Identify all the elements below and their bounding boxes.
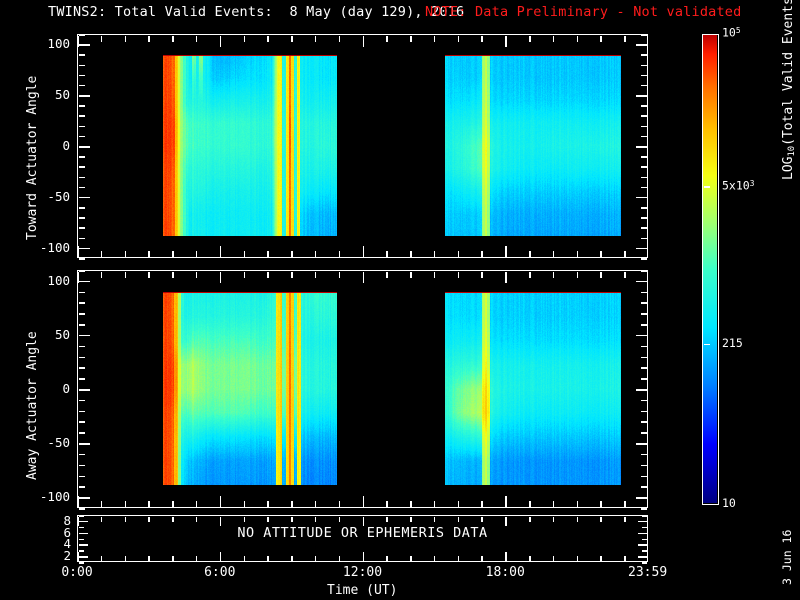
axis-tick	[79, 400, 85, 402]
axis-tick	[529, 501, 531, 507]
axis-tick	[641, 400, 647, 402]
axis-tick	[172, 517, 174, 522]
away-ytick-label: 100	[30, 275, 70, 288]
plot-date-stamp: 3 Jun 16	[782, 530, 794, 585]
axis-tick	[553, 556, 555, 561]
axis-tick	[458, 501, 460, 507]
axis-tick	[220, 272, 222, 283]
axis-tick	[79, 486, 85, 488]
axis-tick	[638, 533, 647, 535]
colorbar-tick-mark	[704, 186, 710, 188]
axis-tick	[505, 517, 507, 526]
axis-tick	[641, 476, 647, 478]
axis-tick	[125, 251, 127, 257]
axis-tick	[267, 501, 269, 507]
axis-tick	[458, 517, 460, 522]
axis-tick	[79, 75, 85, 77]
axis-tick	[315, 501, 317, 507]
axis-tick	[79, 146, 90, 148]
axis-tick	[636, 44, 647, 46]
axis-tick	[641, 126, 647, 128]
time-tick-label: 12:00	[328, 566, 398, 579]
time-axis-title: Time (UT)	[327, 584, 397, 597]
axis-tick	[79, 197, 90, 199]
axis-tick	[79, 432, 85, 434]
axis-tick	[79, 313, 85, 315]
axis-tick	[636, 335, 647, 337]
axis-tick	[79, 533, 88, 535]
ephemeris-message: NO ATTITUDE OR EPHEMERIS DATA	[77, 527, 648, 541]
axis-tick	[267, 251, 269, 257]
axis-tick	[79, 207, 85, 209]
axis-tick	[79, 85, 85, 87]
axis-tick	[79, 105, 85, 107]
axis-tick	[386, 556, 388, 561]
colorbar-tick-mark	[704, 344, 710, 346]
axis-tick	[79, 34, 85, 36]
axis-tick	[642, 562, 647, 564]
axis-tick	[481, 501, 483, 507]
axis-tick	[363, 272, 365, 283]
axis-tick	[291, 251, 293, 257]
axis-tick	[636, 443, 647, 445]
axis-tick	[600, 251, 602, 257]
axis-tick	[79, 421, 85, 423]
axis-tick	[244, 501, 246, 507]
axis-tick	[148, 517, 150, 522]
axis-tick	[458, 272, 460, 278]
axis-tick	[600, 36, 602, 42]
axis-tick	[434, 36, 436, 42]
axis-tick	[77, 36, 79, 47]
axis-tick	[641, 302, 647, 304]
axis-tick	[291, 501, 293, 507]
axis-tick	[172, 36, 174, 42]
axis-tick	[196, 517, 198, 522]
toward-ytick-label: -100	[30, 242, 70, 255]
axis-tick	[79, 411, 85, 413]
toward-ytick-label: 100	[30, 38, 70, 51]
axis-tick	[553, 251, 555, 257]
axis-tick	[79, 508, 85, 510]
axis-tick	[624, 517, 626, 522]
axis-tick	[125, 501, 127, 507]
away-ytick-label: -100	[30, 491, 70, 504]
axis-tick	[220, 36, 222, 47]
axis-tick	[641, 156, 647, 158]
toward-actuator-heatmap	[78, 35, 646, 256]
ephemeris-ytick-label: 2	[43, 550, 71, 563]
axis-tick	[363, 517, 365, 526]
axis-tick	[267, 36, 269, 42]
axis-tick	[79, 95, 90, 97]
axis-tick	[339, 517, 341, 522]
axis-tick	[641, 115, 647, 117]
axis-tick	[79, 166, 85, 168]
axis-tick	[641, 187, 647, 189]
axis-tick	[458, 251, 460, 257]
axis-tick	[386, 501, 388, 507]
axis-tick	[79, 44, 90, 46]
axis-tick	[79, 270, 85, 272]
axis-tick	[220, 496, 222, 507]
axis-tick	[77, 496, 79, 507]
axis-tick	[196, 251, 198, 257]
axis-tick	[641, 136, 647, 138]
axis-tick	[624, 251, 626, 257]
axis-tick	[79, 177, 85, 179]
axis-tick	[79, 544, 88, 546]
axis-tick	[172, 501, 174, 507]
axis-tick	[79, 302, 85, 304]
axis-tick	[79, 454, 85, 456]
axis-tick	[434, 517, 436, 522]
axis-tick	[577, 251, 579, 257]
axis-tick	[577, 272, 579, 278]
axis-tick	[386, 36, 388, 42]
axis-tick	[267, 517, 269, 522]
axis-tick	[363, 36, 365, 47]
axis-tick	[339, 272, 341, 278]
axis-tick	[386, 517, 388, 522]
axis-tick	[600, 517, 602, 522]
axis-tick	[291, 517, 293, 522]
axis-tick	[410, 501, 412, 507]
axis-tick	[339, 501, 341, 507]
axis-tick	[481, 556, 483, 561]
axis-tick	[79, 126, 85, 128]
axis-tick	[125, 556, 127, 561]
axis-tick	[641, 217, 647, 219]
axis-tick	[79, 54, 85, 56]
axis-tick	[77, 552, 79, 561]
axis-tick	[79, 227, 85, 229]
axis-tick	[641, 238, 647, 240]
axis-tick	[642, 527, 647, 529]
axis-tick	[79, 521, 88, 523]
axis-tick	[339, 251, 341, 257]
axis-tick	[641, 75, 647, 77]
axis-tick	[624, 36, 626, 42]
axis-tick	[339, 36, 341, 42]
axis-tick	[244, 272, 246, 278]
axis-tick	[79, 497, 90, 499]
axis-tick	[641, 378, 647, 380]
axis-tick	[553, 501, 555, 507]
axis-tick	[148, 501, 150, 507]
axis-tick	[636, 95, 647, 97]
axis-tick	[636, 497, 647, 499]
axis-tick	[79, 65, 85, 67]
axis-tick	[641, 454, 647, 456]
axis-tick	[79, 443, 90, 445]
axis-tick	[642, 539, 647, 541]
axis-tick	[529, 36, 531, 42]
colorbar-gradient	[703, 35, 717, 503]
axis-tick	[315, 36, 317, 42]
axis-tick	[458, 36, 460, 42]
axis-tick	[638, 556, 647, 558]
axis-tick	[410, 251, 412, 257]
axis-tick	[77, 517, 79, 526]
axis-tick	[101, 517, 103, 522]
axis-tick	[125, 272, 127, 278]
axis-tick	[636, 248, 647, 250]
axis-tick	[386, 272, 388, 278]
axis-tick	[79, 136, 85, 138]
axis-tick	[458, 556, 460, 561]
page-title: TWINS2: Total Valid Events: 8 May (day 1…	[48, 6, 464, 20]
axis-tick	[641, 465, 647, 467]
axis-tick	[315, 556, 317, 561]
away-actuator-panel[interactable]	[77, 270, 648, 508]
axis-tick	[125, 517, 127, 522]
plot-page: TWINS2: Total Valid Events: 8 May (day 1…	[0, 0, 800, 600]
colorbar-axis-title: LOG10(Total Valid Events per Scan)	[782, 0, 797, 180]
axis-tick	[79, 389, 90, 391]
axis-tick	[244, 556, 246, 561]
axis-tick	[172, 251, 174, 257]
axis-tick	[505, 552, 507, 561]
axis-tick	[505, 246, 507, 257]
axis-tick	[481, 517, 483, 522]
axis-tick	[101, 272, 103, 278]
axis-tick	[79, 346, 85, 348]
axis-tick	[642, 515, 647, 517]
axis-tick	[125, 36, 127, 42]
axis-tick	[410, 556, 412, 561]
axis-tick	[79, 324, 85, 326]
axis-tick	[641, 105, 647, 107]
axis-tick	[220, 246, 222, 257]
axis-tick	[79, 187, 85, 189]
axis-tick	[505, 496, 507, 507]
axis-tick	[529, 272, 531, 278]
axis-tick	[101, 36, 103, 42]
axis-tick	[291, 556, 293, 561]
axis-tick	[101, 251, 103, 257]
axis-tick	[434, 272, 436, 278]
axis-tick	[641, 508, 647, 510]
axis-tick	[624, 556, 626, 561]
axis-tick	[267, 556, 269, 561]
axis-tick	[79, 527, 84, 529]
axis-tick	[636, 281, 647, 283]
axis-tick	[363, 552, 365, 561]
axis-tick	[577, 556, 579, 561]
colorbar-tick-label: 105	[722, 27, 741, 39]
axis-tick	[148, 251, 150, 257]
axis-tick	[79, 335, 90, 337]
axis-tick	[641, 207, 647, 209]
axis-tick	[410, 517, 412, 522]
colorbar-tick-label: 10	[722, 498, 736, 510]
axis-tick	[641, 357, 647, 359]
axis-tick	[636, 146, 647, 148]
axis-tick	[600, 556, 602, 561]
axis-tick	[79, 476, 85, 478]
axis-tick	[624, 501, 626, 507]
axis-tick	[77, 272, 79, 283]
axis-tick	[79, 292, 85, 294]
axis-tick	[642, 550, 647, 552]
axis-tick	[79, 156, 85, 158]
axis-tick	[553, 272, 555, 278]
away-actuator-axis-title: Away Actuator Angle	[26, 331, 39, 480]
axis-tick	[553, 36, 555, 42]
axis-tick	[641, 54, 647, 56]
axis-tick	[79, 367, 85, 369]
axis-tick	[641, 367, 647, 369]
axis-tick	[553, 517, 555, 522]
axis-tick	[529, 251, 531, 257]
axis-tick	[363, 246, 365, 257]
axis-tick	[638, 521, 647, 523]
axis-tick	[148, 556, 150, 561]
axis-tick	[79, 248, 90, 250]
axis-tick	[172, 556, 174, 561]
axis-tick	[636, 197, 647, 199]
axis-tick	[641, 292, 647, 294]
axis-tick	[641, 313, 647, 315]
time-tick-label: 18:00	[470, 566, 540, 579]
axis-tick	[641, 270, 647, 272]
axis-tick	[339, 556, 341, 561]
axis-tick	[410, 272, 412, 278]
axis-tick	[481, 36, 483, 42]
axis-tick	[481, 272, 483, 278]
axis-tick	[79, 258, 85, 260]
axis-tick	[79, 550, 84, 552]
axis-tick	[315, 517, 317, 522]
axis-tick	[434, 251, 436, 257]
axis-tick	[641, 324, 647, 326]
axis-tick	[291, 272, 293, 278]
axis-tick	[79, 562, 84, 564]
axis-tick	[434, 556, 436, 561]
preliminary-data-warning: NOTE: Data Preliminary - Not validated	[425, 6, 741, 20]
axis-tick	[220, 517, 222, 526]
axis-tick	[220, 552, 222, 561]
axis-tick	[79, 378, 85, 380]
axis-tick	[79, 281, 90, 283]
axis-tick	[641, 432, 647, 434]
axis-tick	[641, 346, 647, 348]
axis-tick	[600, 272, 602, 278]
axis-tick	[641, 166, 647, 168]
axis-tick	[79, 515, 84, 517]
axis-tick	[434, 501, 436, 507]
axis-tick	[638, 544, 647, 546]
axis-tick	[244, 251, 246, 257]
time-tick-label: 23:59	[613, 566, 683, 579]
axis-tick	[79, 238, 85, 240]
axis-tick	[244, 36, 246, 42]
axis-tick	[79, 115, 85, 117]
axis-tick	[244, 517, 246, 522]
axis-tick	[101, 501, 103, 507]
axis-tick	[641, 421, 647, 423]
axis-tick	[641, 177, 647, 179]
axis-tick	[79, 357, 85, 359]
axis-tick	[577, 517, 579, 522]
axis-tick	[101, 556, 103, 561]
axis-tick	[79, 465, 85, 467]
axis-tick	[79, 217, 85, 219]
axis-tick	[77, 246, 79, 257]
axis-tick	[641, 411, 647, 413]
colorbar[interactable]	[702, 34, 719, 505]
toward-actuator-panel[interactable]	[77, 34, 648, 258]
axis-tick	[641, 486, 647, 488]
axis-tick	[481, 251, 483, 257]
toward-actuator-axis-title: Toward Actuator Angle	[26, 76, 39, 240]
axis-tick	[196, 501, 198, 507]
axis-tick	[577, 501, 579, 507]
time-tick-label: 6:00	[185, 566, 255, 579]
axis-tick	[196, 36, 198, 42]
axis-tick	[505, 272, 507, 283]
axis-tick	[641, 85, 647, 87]
axis-tick	[79, 556, 88, 558]
axis-tick	[529, 517, 531, 522]
axis-tick	[410, 36, 412, 42]
axis-tick	[291, 36, 293, 42]
axis-tick	[172, 272, 174, 278]
colorbar-tick-label: 215	[722, 338, 743, 350]
axis-tick	[641, 65, 647, 67]
axis-tick	[641, 34, 647, 36]
axis-tick	[529, 556, 531, 561]
colorbar-tick-label: 5x103	[722, 180, 754, 192]
axis-tick	[363, 496, 365, 507]
axis-tick	[315, 251, 317, 257]
time-tick-label: 0:00	[42, 566, 112, 579]
axis-tick	[267, 272, 269, 278]
axis-tick	[79, 539, 84, 541]
axis-tick	[315, 272, 317, 278]
away-actuator-heatmap	[78, 271, 646, 506]
axis-tick	[600, 501, 602, 507]
axis-tick	[148, 272, 150, 278]
axis-tick	[641, 258, 647, 260]
axis-tick	[148, 36, 150, 42]
axis-tick	[641, 227, 647, 229]
axis-tick	[636, 389, 647, 391]
axis-tick	[577, 36, 579, 42]
axis-tick	[196, 272, 198, 278]
axis-tick	[196, 556, 198, 561]
axis-tick	[505, 36, 507, 47]
axis-tick	[624, 272, 626, 278]
axis-tick	[386, 251, 388, 257]
